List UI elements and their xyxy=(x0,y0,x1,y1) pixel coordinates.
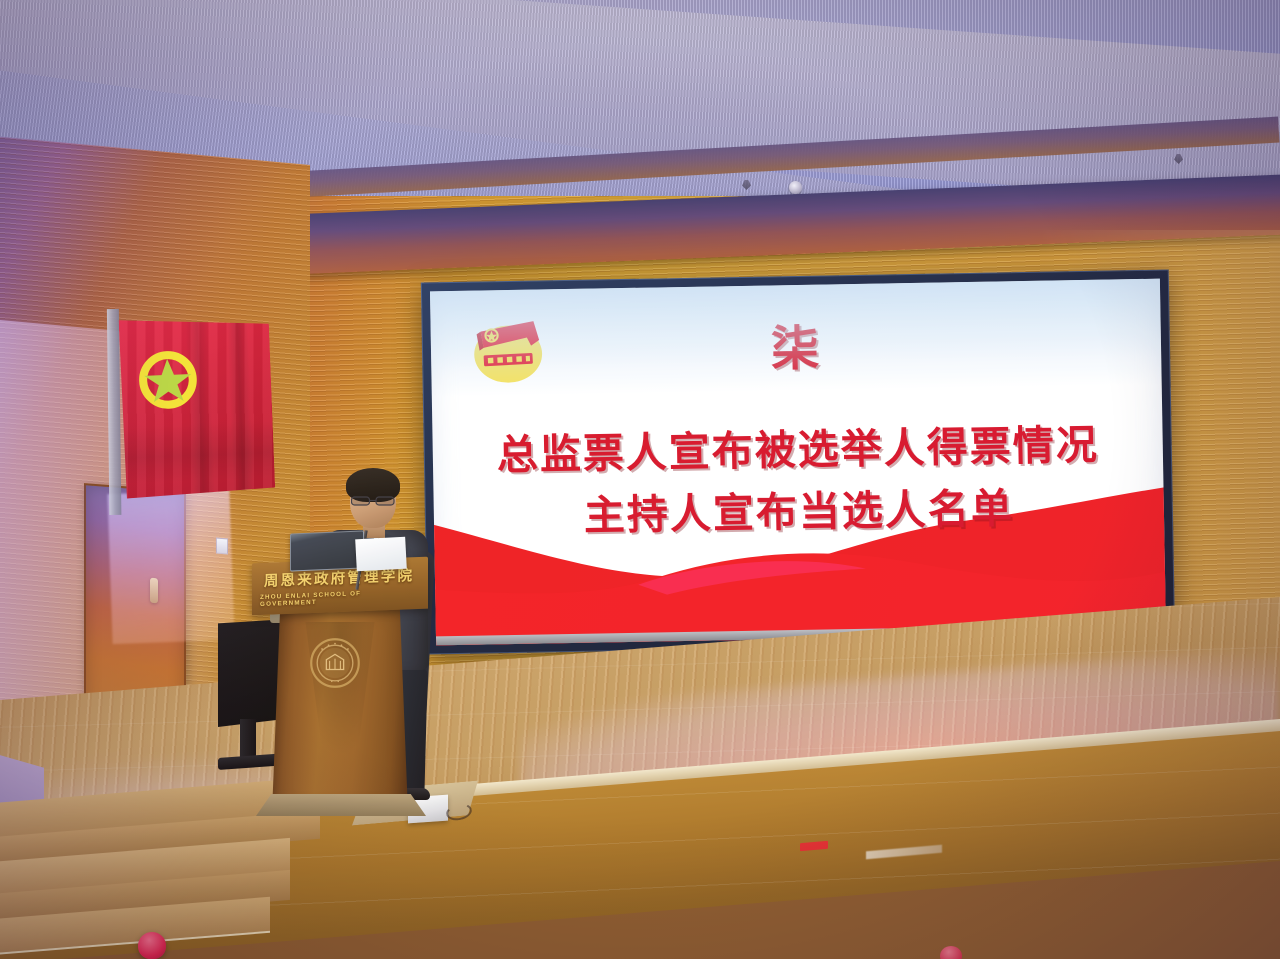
podium-nameplate-text: 周恩来政府管理学院 ZHOU ENLAI SCHOOL OF GOVERNMEN… xyxy=(260,563,418,609)
podium-base xyxy=(256,794,426,816)
lower-banner-cloth xyxy=(107,490,234,644)
screen-section-numeral: 柒 xyxy=(771,325,822,374)
youth-league-flag xyxy=(104,309,279,505)
pink-flower-secondary xyxy=(940,946,962,959)
laptop-on-podium[interactable] xyxy=(290,530,364,571)
university-seal-crest-icon xyxy=(308,636,362,690)
lectern-podium: 周恩来政府管理学院 ZHOU ENLAI SCHOOL OF GOVERNMEN… xyxy=(250,560,428,810)
flag-star-emblem-icon xyxy=(136,348,200,412)
screen-headline-line-1: 总监票人宣布被选举人得票情况 xyxy=(496,423,1099,479)
led-display-screen[interactable]: 柒 总监票人宣布被选举人得票情况 主持人宣布当选人名单 xyxy=(421,270,1175,655)
smoke-detector-icon xyxy=(789,181,802,194)
papers-on-podium[interactable] xyxy=(355,537,407,572)
screen-text-block: 柒 总监票人宣布被选举人得票情况 主持人宣布当选人名单 xyxy=(430,279,1166,646)
auditorium-scene: 柒 总监票人宣布被选举人得票情况 主持人宣布当选人名单 xyxy=(0,0,1280,959)
led-display-content: 柒 总监票人宣布被选举人得票情况 主持人宣布当选人名单 xyxy=(430,279,1166,646)
eyeglasses-icon xyxy=(351,496,395,506)
pink-flower xyxy=(138,932,166,959)
flag-pole xyxy=(107,309,122,515)
screen-headline-line-2: 主持人宣布当选人名单 xyxy=(584,486,1015,539)
